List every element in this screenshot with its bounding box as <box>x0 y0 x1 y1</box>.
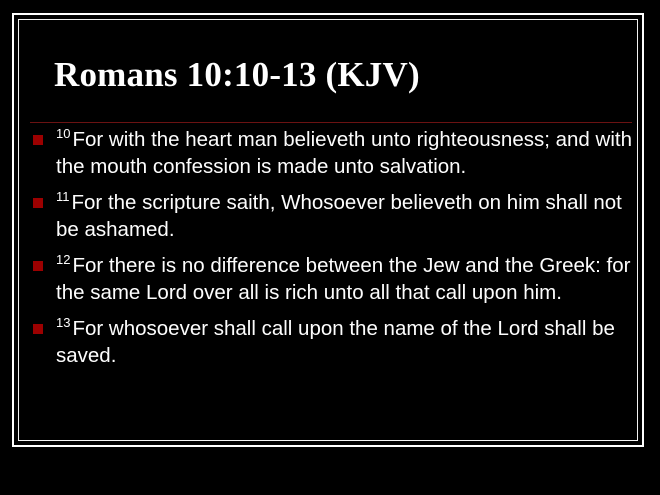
verse-list: 10For with the heart man believeth unto … <box>29 126 633 369</box>
list-item: 10For with the heart man believeth unto … <box>29 126 633 180</box>
verse-text: For whosoever shall call upon the name o… <box>56 317 615 367</box>
verse-number: 10 <box>56 126 72 141</box>
presentation-slide: Romans 10:10-13 (KJV) 10For with the hea… <box>0 0 660 495</box>
slide-title: Romans 10:10-13 (KJV) <box>54 54 614 96</box>
list-item: 12For there is no difference between the… <box>29 252 633 306</box>
list-item: 13For whosoever shall call upon the name… <box>29 315 633 369</box>
verse-text: For with the heart man believeth unto ri… <box>56 128 632 178</box>
verse-number: 13 <box>56 315 72 330</box>
verse-text: For the scripture saith, Whosoever belie… <box>56 191 622 241</box>
title-divider-rule <box>30 122 632 123</box>
verse-number: 12 <box>56 252 72 267</box>
square-bullet-icon <box>33 135 43 145</box>
verse-number: 11 <box>56 189 72 204</box>
square-bullet-icon <box>33 198 43 208</box>
verse-text: For there is no difference between the J… <box>56 254 630 304</box>
square-bullet-icon <box>33 324 43 334</box>
square-bullet-icon <box>33 261 43 271</box>
list-item: 11For the scripture saith, Whosoever bel… <box>29 189 633 243</box>
